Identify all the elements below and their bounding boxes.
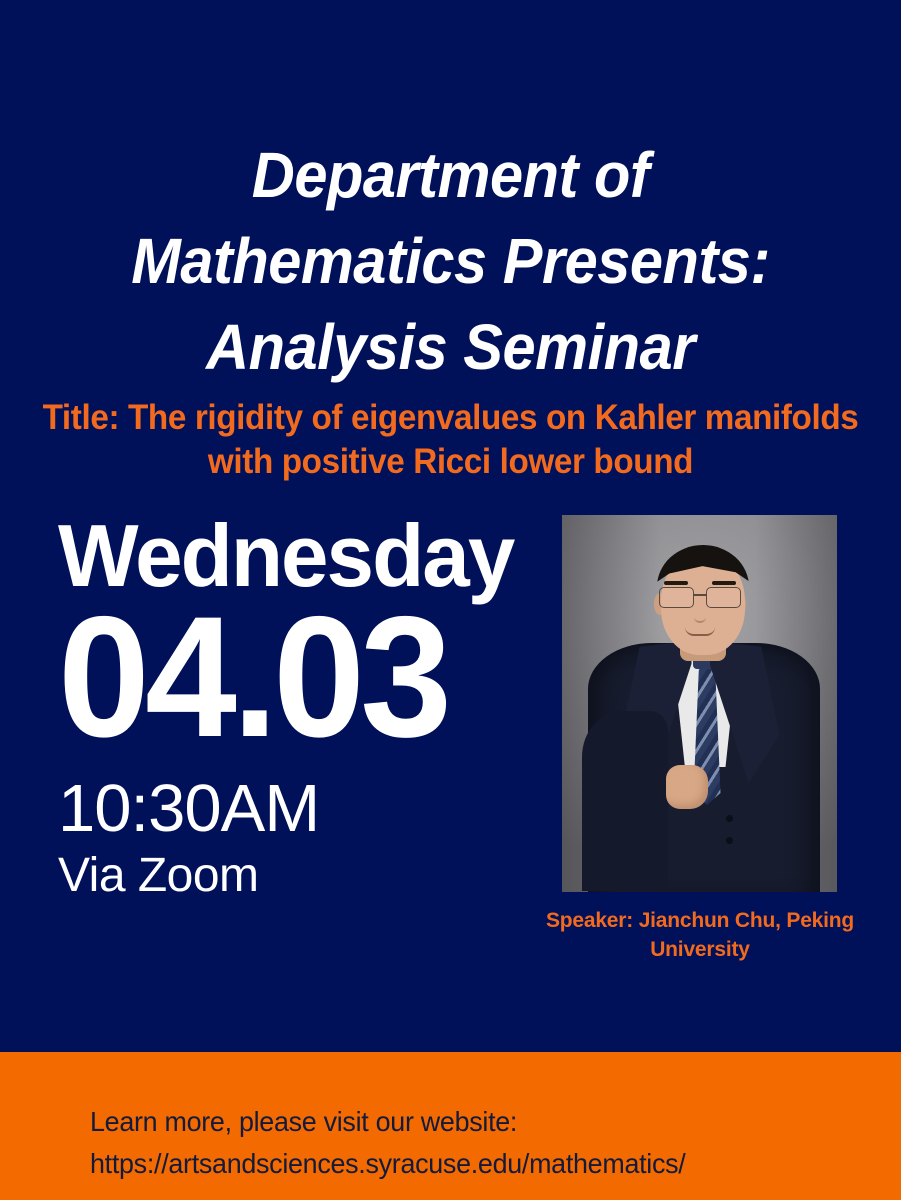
- heading-line-2: Mathematics Presents:: [32, 218, 870, 304]
- photo-nose: [694, 609, 706, 623]
- photo-suit-button-1: [726, 815, 733, 822]
- heading-line-3: Analysis Seminar: [32, 304, 870, 390]
- photo-suit-button-2: [726, 837, 733, 844]
- speaker-photo: [562, 515, 837, 892]
- photo-lens-right: [706, 587, 741, 608]
- footer-text: Learn more, please visit our website: ht…: [90, 1101, 685, 1185]
- website-url[interactable]: https://artsandsciences.syracuse.edu/mat…: [90, 1143, 685, 1185]
- photo-hand: [666, 765, 708, 809]
- seminar-poster: Department of Mathematics Presents: Anal…: [0, 0, 901, 1200]
- event-date: 04.03: [58, 602, 538, 752]
- photo-arm-left: [582, 711, 668, 891]
- photo-eyebrow-right: [712, 581, 736, 585]
- photo-eyebrow-left: [664, 581, 688, 585]
- event-venue: Via Zoom: [58, 850, 558, 902]
- event-datetime-block: Wednesday 04.03 10:30AM Via Zoom: [58, 512, 558, 902]
- talk-title: Title: The rigidity of eigenvalues on Ka…: [36, 396, 865, 484]
- talk-title-line-1: Title: The rigidity of eigenvalues on Ka…: [36, 396, 865, 440]
- speaker-caption: Speaker: Jianchun Chu, Peking University: [520, 906, 880, 964]
- poster-heading: Department of Mathematics Presents: Anal…: [32, 132, 870, 390]
- footer-line-1: Learn more, please visit our website:: [90, 1101, 685, 1143]
- photo-lens-left: [659, 587, 694, 608]
- talk-title-line-2: with positive Ricci lower bound: [36, 440, 865, 484]
- footer-band: Learn more, please visit our website: ht…: [0, 1052, 901, 1200]
- glasses-icon: [657, 587, 743, 607]
- heading-line-1: Department of: [32, 132, 870, 218]
- speaker-caption-line-2: University: [520, 935, 880, 964]
- event-time: 10:30AM: [58, 774, 558, 844]
- speaker-caption-line-1: Speaker: Jianchun Chu, Peking: [520, 906, 880, 935]
- photo-glasses-bridge: [693, 594, 707, 596]
- photo-mouth: [685, 627, 715, 636]
